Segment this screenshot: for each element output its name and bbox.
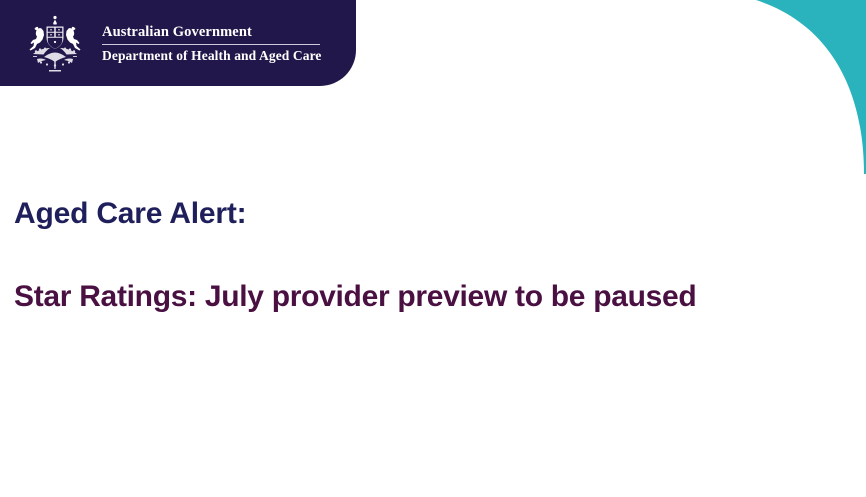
government-wordmark: Australian Government Department of Heal…: [102, 23, 322, 65]
government-header-banner: Australian Government Department of Heal…: [0, 0, 356, 86]
wordmark-divider: [102, 44, 320, 45]
page-subtitle: Star Ratings: July provider preview to b…: [14, 279, 834, 314]
page-title: Aged Care Alert:: [14, 196, 834, 231]
teal-quarter-arc-decoration: [756, 0, 866, 174]
slide-canvas: Australian Government Department of Heal…: [0, 0, 866, 497]
teal-arc-shape: [756, 0, 866, 174]
australian-coat-of-arms-icon: [18, 13, 92, 75]
title-block: Aged Care Alert: Star Ratings: July prov…: [14, 196, 834, 315]
department-name: Department of Health and Aged Care: [102, 48, 322, 65]
organisation-name: Australian Government: [102, 23, 322, 41]
